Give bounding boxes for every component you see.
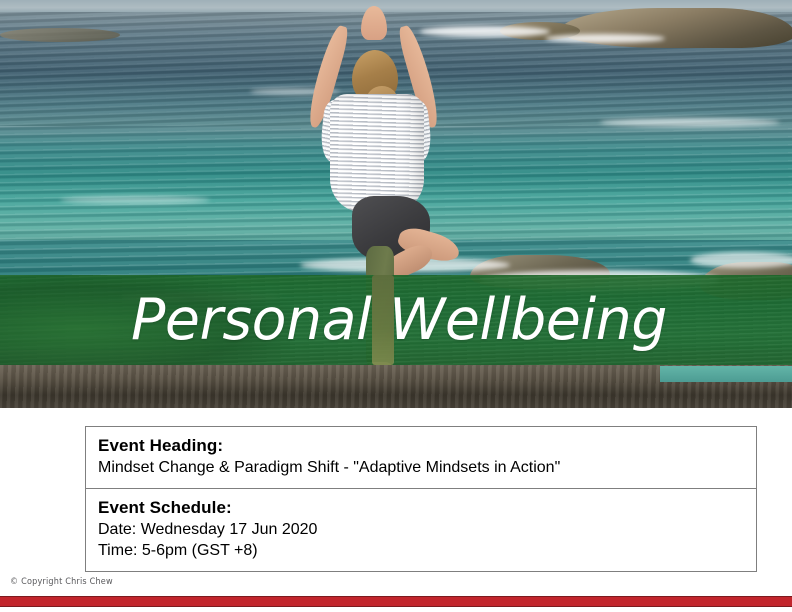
slide-canvas: Personal Wellbeing Event Heading: Mindse… [0, 0, 792, 612]
event-details-table: Event Heading: Mindset Change & Paradigm… [85, 426, 757, 572]
shallow-water-right [660, 366, 792, 382]
copyright-icon: © [10, 577, 18, 587]
copyright-notice: © Copyright Chris Chew [10, 577, 113, 587]
event-heading-label: Event Heading: [98, 435, 756, 457]
page-title: Personal Wellbeing [0, 275, 792, 365]
hero-photo: Personal Wellbeing [0, 0, 792, 408]
table-row: Event Heading: Mindset Change & Paradigm… [86, 427, 756, 488]
event-heading-value: Mindset Change & Paradigm Shift - "Adapt… [98, 457, 756, 478]
event-schedule-label: Event Schedule: [98, 497, 756, 519]
striped-shirt [330, 94, 424, 212]
prayer-hands [361, 6, 387, 40]
event-schedule-date: Date: Wednesday 17 Jun 2020 [98, 519, 756, 540]
event-schedule-time: Time: 5-6pm (GST +8) [98, 540, 756, 561]
bottom-accent-bar [0, 596, 792, 607]
copyright-text: Copyright Chris Chew [21, 577, 113, 587]
table-row: Event Schedule: Date: Wednesday 17 Jun 2… [86, 488, 756, 571]
